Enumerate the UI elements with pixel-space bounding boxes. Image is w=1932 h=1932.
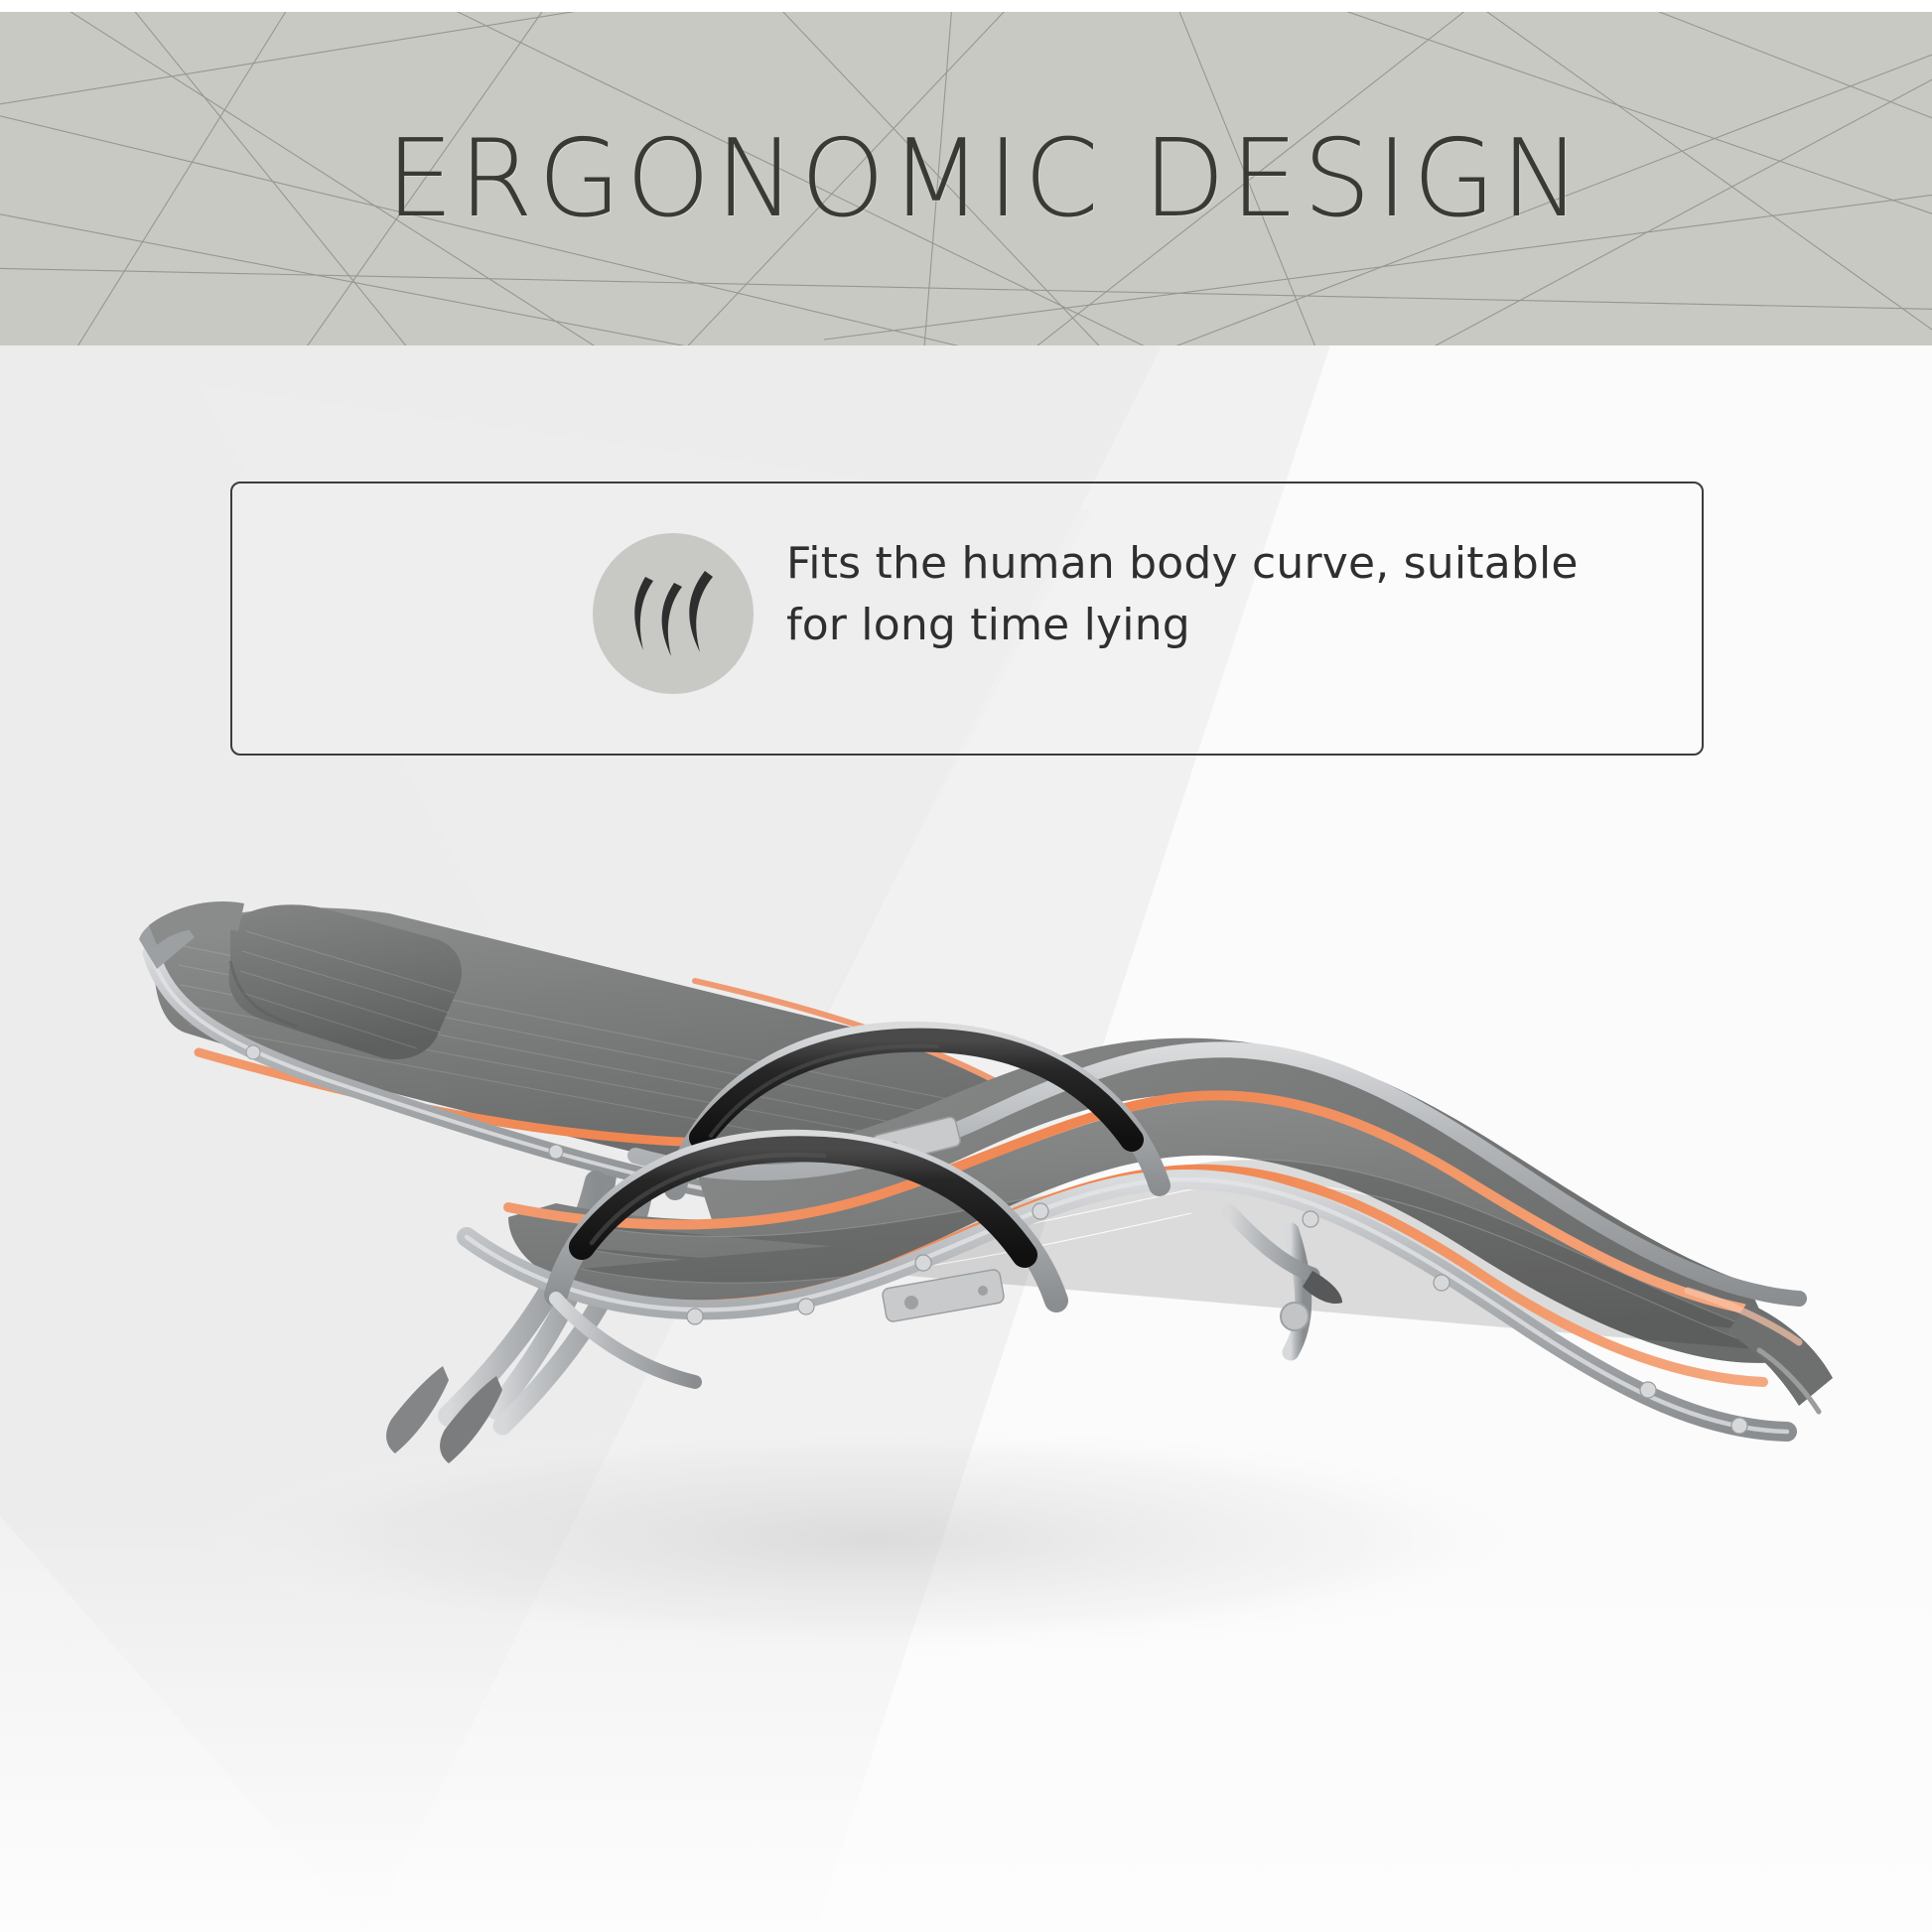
product-shadow xyxy=(179,1420,1569,1658)
page-title: ERGONOMIC DESIGN xyxy=(0,12,1932,345)
feature-description-line-2: for long time lying xyxy=(786,595,1600,656)
feature-icon-wrapper xyxy=(593,533,754,694)
wheel-hub-right xyxy=(1281,1303,1309,1330)
feature-description: Fits the human body curve, suitable for … xyxy=(786,533,1600,657)
feature-description-line-1: Fits the human body curve, suitable xyxy=(786,533,1600,595)
body-curve-waves-icon xyxy=(593,533,754,694)
feature-callout-card: Fits the human body curve, suitable for … xyxy=(230,482,1704,756)
header-band: ERGONOMIC DESIGN xyxy=(0,12,1932,345)
foot-cap-left-1 xyxy=(386,1366,449,1453)
product-photo-lounge-chair xyxy=(0,854,1932,1827)
product-marketing-image: ERGONOMIC DESIGN Fits the human body cur… xyxy=(0,0,1932,1932)
lounge-chair-illustration xyxy=(0,854,1932,1827)
wave-lines-glyph xyxy=(620,559,727,668)
